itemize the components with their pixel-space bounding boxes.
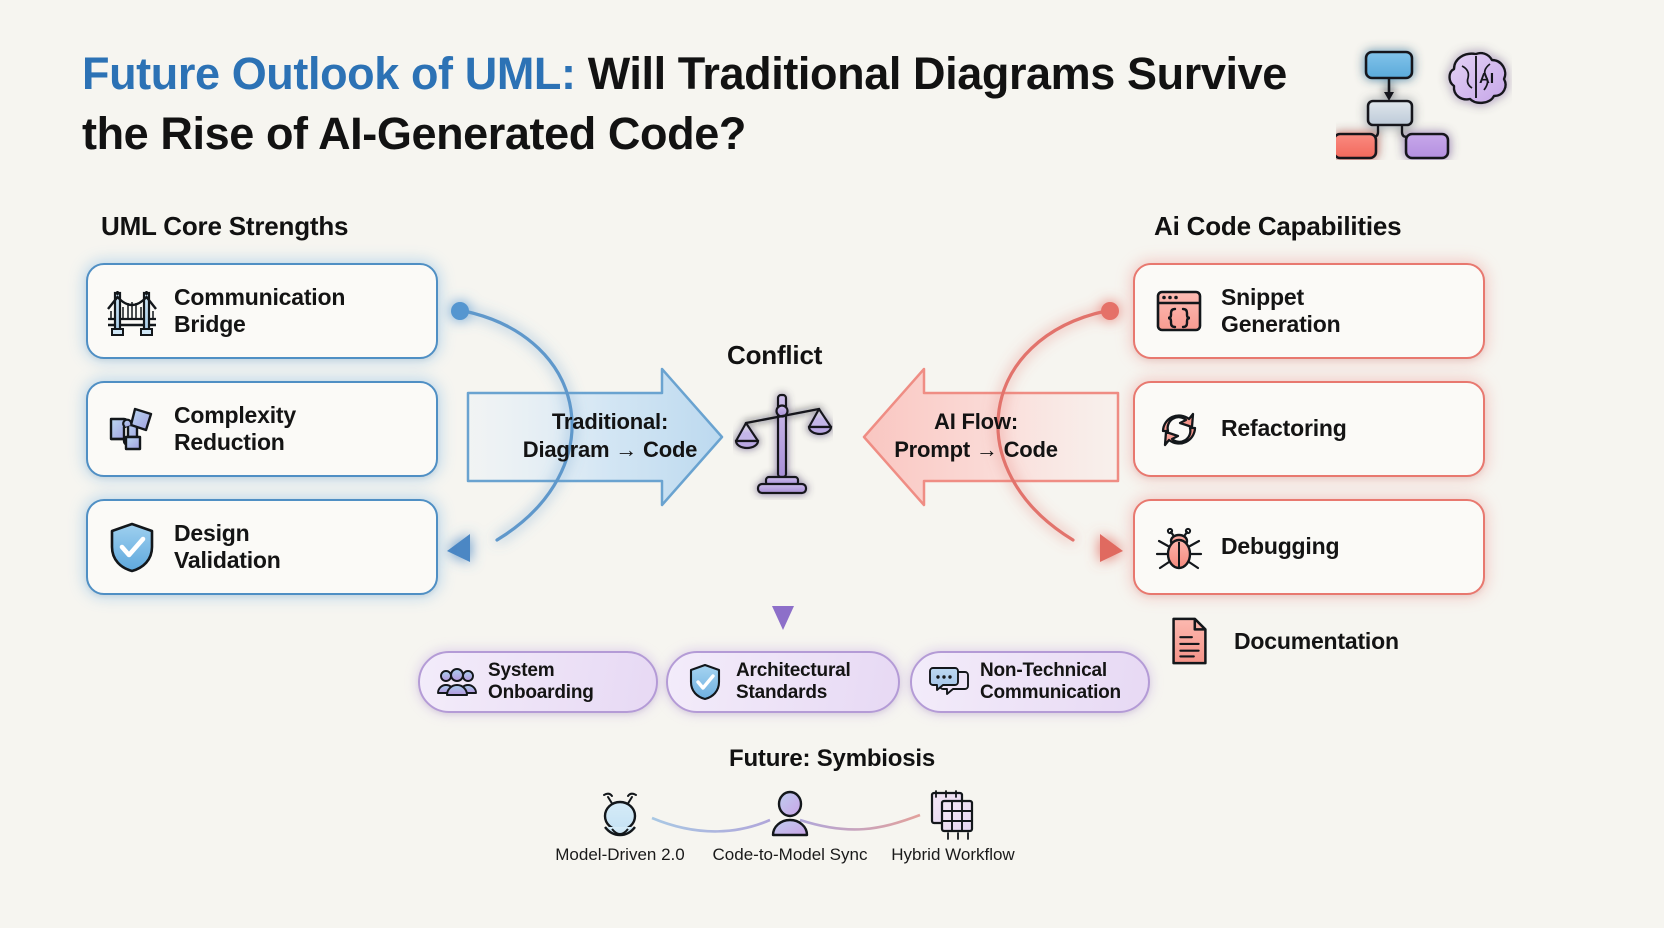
card-label: Debugging bbox=[1221, 533, 1339, 560]
card-label: Snippet Generation bbox=[1221, 284, 1340, 338]
chat-bubbles-icon bbox=[929, 662, 969, 702]
refresh-cycle-icon bbox=[1151, 401, 1207, 457]
future-node-hybrid-workflow[interactable]: Hybrid Workflow bbox=[880, 785, 1026, 865]
future-node-label: Hybrid Workflow bbox=[880, 845, 1026, 865]
card-label-line1: Communication bbox=[174, 284, 345, 310]
pill-label-line1: System bbox=[488, 660, 554, 681]
card-label-line1: Complexity bbox=[174, 402, 296, 428]
future-section-title: Future: Symbiosis bbox=[0, 745, 1664, 773]
document-icon bbox=[1162, 614, 1216, 668]
balance-scales-icon bbox=[733, 385, 833, 500]
pill-label: System Onboarding bbox=[488, 660, 594, 704]
pill-label-line1: Non-Technical bbox=[980, 660, 1107, 681]
shield-check-icon bbox=[104, 519, 160, 575]
future-node-label: Code-to-Model Sync bbox=[706, 845, 874, 865]
item-label: Documentation bbox=[1234, 628, 1399, 655]
right-column-heading: Ai Code Capabilities bbox=[1154, 211, 1401, 242]
card-label: Design Validation bbox=[174, 520, 281, 574]
pill-non-technical-communication[interactable]: Non-Technical Communication bbox=[910, 651, 1150, 713]
bridge-icon bbox=[104, 283, 160, 339]
ai-flow-label: AI Flow: Prompt → Code bbox=[866, 408, 1086, 464]
conflict-label: Conflict bbox=[727, 340, 822, 371]
traditional-flow-label: Traditional: Diagram → Code bbox=[500, 408, 720, 464]
card-label-line2: Generation bbox=[1221, 311, 1340, 337]
page-title: Future Outlook of UML: Will Traditional … bbox=[82, 44, 1322, 164]
pill-label-line1: Architectural bbox=[736, 660, 851, 681]
card-label-line1: Debugging bbox=[1221, 533, 1339, 559]
card-communication-bridge[interactable]: Communication Bridge bbox=[86, 263, 438, 359]
card-label: Communication Bridge bbox=[174, 284, 345, 338]
card-debugging[interactable]: Debugging bbox=[1133, 499, 1485, 595]
traditional-flow-line1: Traditional: bbox=[552, 409, 668, 434]
grid-layers-icon bbox=[924, 785, 982, 843]
future-node-label: Model-Driven 2.0 bbox=[552, 845, 688, 865]
pill-label-line2: Standards bbox=[736, 682, 827, 703]
card-label-line2: Validation bbox=[174, 547, 281, 573]
users-group-icon bbox=[437, 662, 477, 702]
item-documentation[interactable]: Documentation bbox=[1162, 614, 1399, 668]
bug-icon bbox=[1151, 519, 1207, 575]
pill-label: Architectural Standards bbox=[736, 660, 851, 704]
left-column-heading: UML Core Strengths bbox=[101, 211, 348, 242]
card-label-line1: Snippet bbox=[1221, 284, 1304, 310]
card-refactoring[interactable]: Refactoring bbox=[1133, 381, 1485, 477]
traditional-flow-line2: Diagram → Code bbox=[523, 437, 697, 462]
ai-flow-line2: Prompt → Code bbox=[894, 437, 1058, 462]
page-title-highlight: Future Outlook of UML: bbox=[82, 48, 576, 99]
header-icon-cluster: AI bbox=[1336, 38, 1512, 160]
ai-brain-label: AI bbox=[1479, 70, 1494, 87]
card-design-validation[interactable]: Design Validation bbox=[86, 499, 438, 595]
card-label-line2: Bridge bbox=[174, 311, 246, 337]
future-node-code-to-model-sync[interactable]: Code-to-Model Sync bbox=[706, 785, 874, 865]
card-label: Complexity Reduction bbox=[174, 402, 296, 456]
shield-check-icon bbox=[685, 662, 725, 702]
robot-icon bbox=[591, 785, 649, 843]
card-label: Refactoring bbox=[1221, 415, 1347, 442]
card-label-line2: Reduction bbox=[174, 429, 285, 455]
pill-architectural-standards[interactable]: Architectural Standards bbox=[666, 651, 900, 713]
flowchart-icon bbox=[1336, 52, 1448, 158]
ai-flow-line1: AI Flow: bbox=[934, 409, 1018, 434]
card-snippet-generation[interactable]: Snippet Generation bbox=[1133, 263, 1485, 359]
puzzle-piece-icon bbox=[104, 401, 160, 457]
future-node-model-driven[interactable]: Model-Driven 2.0 bbox=[552, 785, 688, 865]
card-complexity-reduction[interactable]: Complexity Reduction bbox=[86, 381, 438, 477]
pill-label: Non-Technical Communication bbox=[980, 660, 1121, 704]
ai-brain-icon: AI bbox=[1450, 53, 1506, 103]
person-icon bbox=[761, 785, 819, 843]
pill-label-line2: Onboarding bbox=[488, 682, 594, 703]
symbiosis-down-arrow bbox=[772, 505, 794, 630]
card-label-line1: Refactoring bbox=[1221, 415, 1347, 441]
code-window-icon bbox=[1151, 283, 1207, 339]
pill-label-line2: Communication bbox=[980, 682, 1121, 703]
card-label-line1: Design bbox=[174, 520, 249, 546]
pill-system-onboarding[interactable]: System Onboarding bbox=[418, 651, 658, 713]
